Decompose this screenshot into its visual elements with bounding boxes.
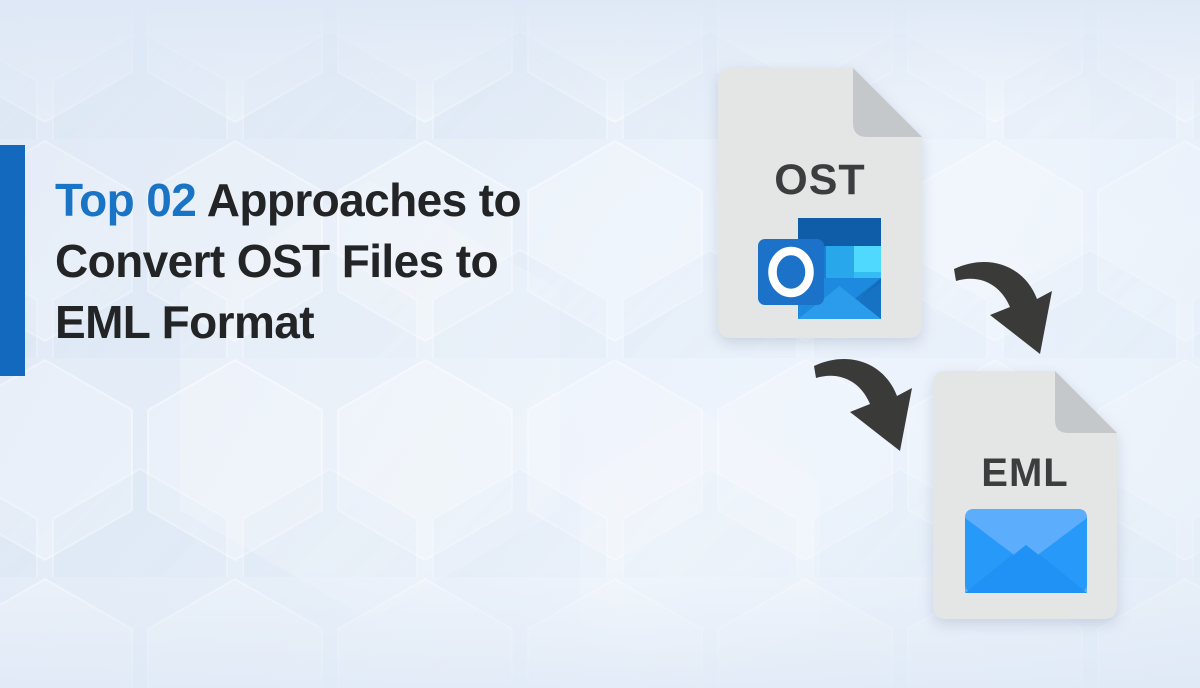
eml-label: EML <box>933 451 1117 496</box>
accent-bar <box>0 145 25 376</box>
title-line1-rest: Approaches to <box>196 174 521 226</box>
title-highlight: Top 02 <box>55 174 196 226</box>
outlook-logo-icon <box>758 216 883 324</box>
conversion-arrow-bottom <box>812 352 920 457</box>
background-top-fade <box>0 0 1200 120</box>
page-title: Top 02 Approaches to Convert OST Files t… <box>55 170 655 354</box>
title-line2: Convert OST Files to <box>55 235 498 287</box>
ost-label: OST <box>718 156 922 205</box>
banner-root: Top 02 Approaches to Convert OST Files t… <box>0 0 1200 688</box>
envelope-icon <box>965 509 1087 593</box>
ost-file-icon: OST <box>718 68 922 338</box>
title-line3: EML Format <box>55 296 314 348</box>
eml-file-icon: EML <box>933 371 1117 619</box>
conversion-arrow-top <box>952 255 1060 360</box>
